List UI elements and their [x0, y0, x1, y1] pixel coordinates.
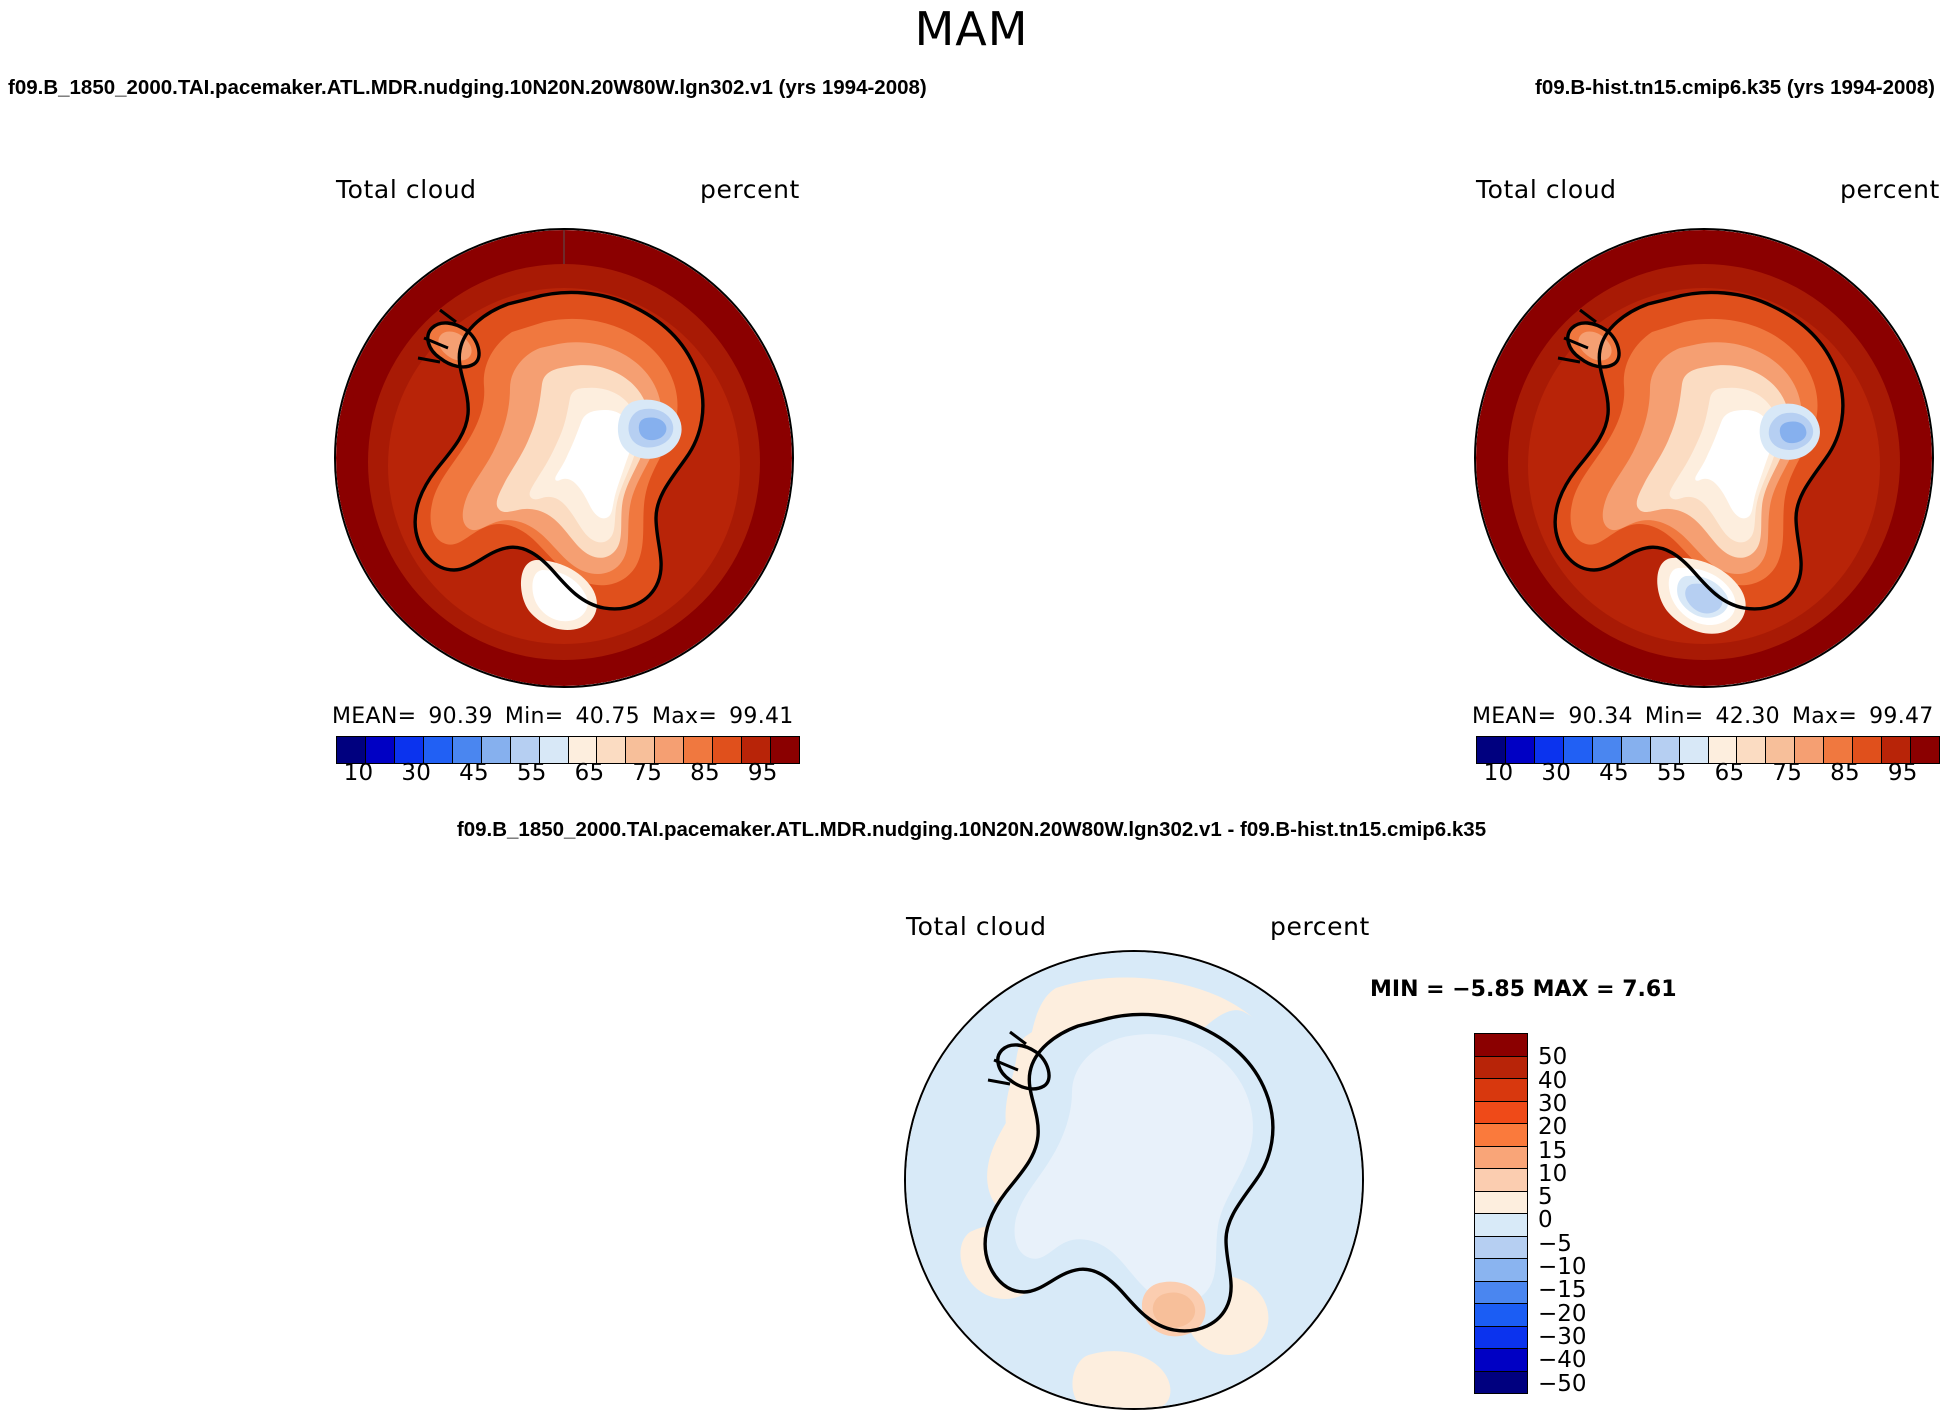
colorbar-cell [1475, 1079, 1527, 1102]
colorbar-cell [1475, 1214, 1527, 1237]
minmax-line-diff: MIN = −5.85 MAX = 7.61 [1370, 977, 1677, 1002]
colorbar-tick-label: 15 [1538, 1138, 1567, 1164]
colorbar-tick-label: 45 [459, 760, 489, 786]
colorbar-tick-label: 20 [1538, 1114, 1567, 1140]
colorbar-tick-label: −5 [1538, 1231, 1572, 1257]
field-label-left: Total cloud [336, 175, 477, 204]
colorbar-cell [1475, 1372, 1527, 1394]
colorbar-tick-label: 75 [1772, 760, 1802, 786]
colorbar-difference [1474, 1033, 1528, 1394]
colorbar-tick-label: 10 [1484, 760, 1514, 786]
map-svg-diff [906, 952, 1362, 1408]
colorbar-tick-label: 50 [1538, 1044, 1567, 1070]
case-title-left: f09.B_1850_2000.TAI.pacemaker.ATL.MDR.nu… [8, 76, 927, 100]
stats-line-left: MEAN=90.39Min=40.75Max=99.41 [332, 704, 794, 729]
colorbar-tick-label: 65 [575, 760, 605, 786]
antarctic-map-difference [904, 950, 1364, 1410]
antarctic-map-right [1474, 228, 1934, 688]
diff-case-title: f09.B_1850_2000.TAI.pacemaker.ATL.MDR.nu… [0, 818, 1943, 842]
colorbar-cell [1475, 1147, 1527, 1170]
colorbar-tick-label: −50 [1538, 1371, 1587, 1397]
map-svg-left [336, 230, 792, 686]
colorbar-tick-label: 30 [1538, 1091, 1567, 1117]
units-label-diff: percent [1270, 912, 1370, 941]
colorbar-tick-label: −15 [1538, 1277, 1587, 1303]
colorbar-tick-label: 85 [1830, 760, 1860, 786]
colorbar-tick-label: 55 [1657, 760, 1687, 786]
units-label-left: percent [700, 175, 800, 204]
colorbar-tick-label: 75 [632, 760, 662, 786]
case-title-right: f09.B-hist.tn15.cmip6.k35 (yrs 1994-2008… [1535, 76, 1935, 100]
field-label-diff: Total cloud [906, 912, 1047, 941]
colorbar-cell [1475, 1102, 1527, 1125]
colorbar-labels-right: 1030455565758595 [1476, 760, 1938, 790]
max-label-right: Max= [1792, 704, 1857, 729]
colorbar-tick-label: 30 [1541, 760, 1571, 786]
colorbar-cell [1475, 1259, 1527, 1282]
colorbar-tick-label: 95 [1888, 760, 1918, 786]
min-label-right: Min= [1645, 704, 1704, 729]
colorbar-cell [1475, 1057, 1527, 1080]
colorbar-tick-label: −10 [1538, 1254, 1587, 1280]
min-value-left: 40.75 [575, 704, 639, 729]
colorbar-cell [1475, 1282, 1527, 1305]
colorbar-cell [1475, 1034, 1527, 1057]
colorbar-cell [1475, 1327, 1527, 1350]
min-value-right: 42.30 [1715, 704, 1779, 729]
max-label-left: Max= [652, 704, 717, 729]
globe-diff [904, 950, 1364, 1410]
colorbar-cell [1475, 1304, 1527, 1327]
colorbar-tick-label: 30 [401, 760, 431, 786]
colorbar-tick-label: 55 [517, 760, 547, 786]
colorbar-labels-left: 1030455565758595 [336, 760, 798, 790]
colorbar-tick-label: −20 [1538, 1301, 1587, 1327]
colorbar-tick-label: 85 [690, 760, 720, 786]
colorbar-tick-label: 10 [344, 760, 374, 786]
colorbar-tick-label: 5 [1538, 1184, 1553, 1210]
colorbar-tick-label: 45 [1599, 760, 1629, 786]
field-label-right: Total cloud [1476, 175, 1617, 204]
colorbar-cell [1475, 1349, 1527, 1372]
colorbar-cell [1475, 1169, 1527, 1192]
mean-value-right: 90.34 [1568, 704, 1632, 729]
colorbar-tick-label: 65 [1715, 760, 1745, 786]
colorbar-cell [1475, 1124, 1527, 1147]
colorbar-cell [1475, 1192, 1527, 1215]
globe-right [1474, 228, 1934, 688]
colorbar-cell [1475, 1237, 1527, 1260]
mean-label-right: MEAN= [1472, 704, 1556, 729]
max-value-left: 99.41 [729, 704, 793, 729]
antarctic-map-left [334, 228, 794, 688]
map-svg-right [1476, 230, 1932, 686]
colorbar-tick-label: 10 [1538, 1161, 1567, 1187]
colorbar-tick-label: 0 [1538, 1207, 1553, 1233]
mean-value-left: 90.39 [428, 704, 492, 729]
colorbar-tick-label: 95 [748, 760, 778, 786]
mean-label-left: MEAN= [332, 704, 416, 729]
colorbar-tick-label: 40 [1538, 1068, 1567, 1094]
colorbar-tick-label: −30 [1538, 1324, 1587, 1350]
globe-left [334, 228, 794, 688]
units-label-right: percent [1840, 175, 1940, 204]
stats-line-right: MEAN=90.34Min=42.30Max=99.47 [1472, 704, 1934, 729]
max-value-right: 99.47 [1869, 704, 1933, 729]
season-title: MAM [0, 2, 1943, 56]
colorbar-tick-label: −40 [1538, 1347, 1587, 1373]
min-label-left: Min= [505, 704, 564, 729]
